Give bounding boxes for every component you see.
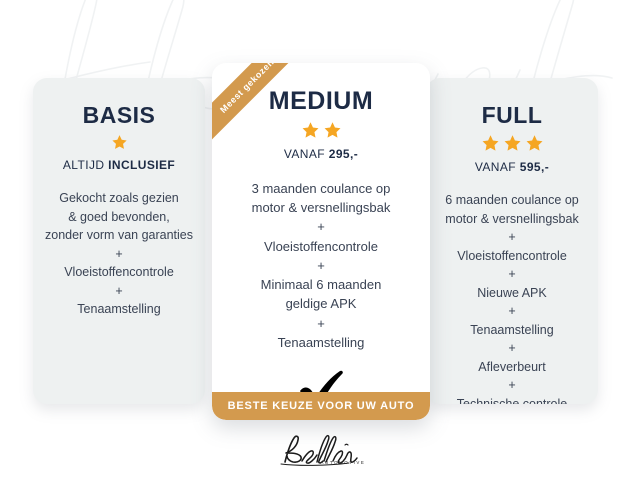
feature-item: 3 maanden coulance op: [224, 179, 418, 198]
pricing-cards-stage: BASIS ALTIJD INCLUSIEF Gekocht zoals gez…: [0, 0, 640, 480]
feature-separator: +: [224, 314, 418, 333]
star-icon: [301, 121, 320, 140]
feature-item: Nieuwe APK: [434, 284, 590, 303]
feature-item: motor & versnellingsbak: [434, 210, 590, 229]
pricing-card-full[interactable]: FULL VANAF 595,- 6 maanden coulance op m…: [426, 78, 598, 404]
star-rating-basis: [33, 134, 205, 151]
feature-item: Tenaamstelling: [41, 300, 197, 319]
feature-item: Technische controle: [434, 395, 590, 405]
plan-price: 295,-: [329, 147, 358, 161]
feature-item: Afleverbeurt: [434, 358, 590, 377]
feature-item: & goed bevonden,: [41, 208, 197, 227]
feature-list-medium: 3 maanden coulance op motor & versnellin…: [212, 179, 430, 352]
feature-list-basis: Gekocht zoals gezien & goed bevonden, zo…: [33, 189, 205, 319]
feature-item: Tenaamstelling: [224, 333, 418, 352]
plan-subtitle-basis: ALTIJD INCLUSIEF: [33, 158, 205, 172]
star-icon: [111, 134, 128, 151]
feature-separator: +: [41, 245, 197, 264]
feature-item: Vloeistoffencontrole: [224, 237, 418, 256]
feature-separator: +: [434, 228, 590, 247]
star-icon: [481, 134, 500, 153]
feature-item: 6 maanden coulance op: [434, 191, 590, 210]
plan-price: 595,-: [520, 160, 549, 174]
star-rating-medium: [212, 121, 430, 140]
feature-separator: +: [434, 302, 590, 321]
plan-subtitle-prefix: VANAF: [284, 147, 325, 161]
feature-item: zonder vorm van garanties: [41, 226, 197, 245]
feature-separator: +: [41, 282, 197, 301]
feature-item: Vloeistoffencontrole: [41, 263, 197, 282]
feature-separator: +: [434, 376, 590, 395]
feature-item: motor & versnellingsbak: [224, 198, 418, 217]
star-rating-full: [426, 134, 598, 153]
feature-item: Vloeistoffencontrole: [434, 247, 590, 266]
plan-subtitle-medium: VANAF 295,-: [212, 147, 430, 161]
plan-subtitle-full: VANAF 595,-: [426, 160, 598, 174]
plan-subtitle-strong: INCLUSIEF: [108, 158, 175, 172]
star-icon: [503, 134, 522, 153]
feature-separator: +: [224, 256, 418, 275]
brand-logo: AUTOMOTIVE: [266, 432, 386, 476]
feature-item: Tenaamstelling: [434, 321, 590, 340]
plan-title-basis: BASIS: [33, 104, 205, 127]
feature-item: Gekocht zoals gezien: [41, 189, 197, 208]
feature-list-full: 6 maanden coulance op motor & versnellin…: [426, 191, 598, 404]
pricing-card-medium[interactable]: Meest gekozen MEDIUM VANAF 295,- 3 maand…: [212, 63, 430, 420]
pricing-card-basis[interactable]: BASIS ALTIJD INCLUSIEF Gekocht zoals gez…: [33, 78, 205, 404]
star-icon: [525, 134, 544, 153]
star-icon: [323, 121, 342, 140]
feature-separator: +: [434, 339, 590, 358]
feature-separator: +: [224, 217, 418, 236]
feature-item: Minimaal 6 maanden: [224, 275, 418, 294]
plan-subtitle-prefix: ALTIJD: [63, 158, 105, 172]
feature-item: geldige APK: [224, 294, 418, 313]
plan-subtitle-prefix: VANAF: [475, 160, 516, 174]
plan-title-full: FULL: [426, 104, 598, 127]
feature-separator: +: [434, 265, 590, 284]
cta-button-medium[interactable]: BESTE KEUZE VOOR UW AUTO: [212, 392, 430, 420]
